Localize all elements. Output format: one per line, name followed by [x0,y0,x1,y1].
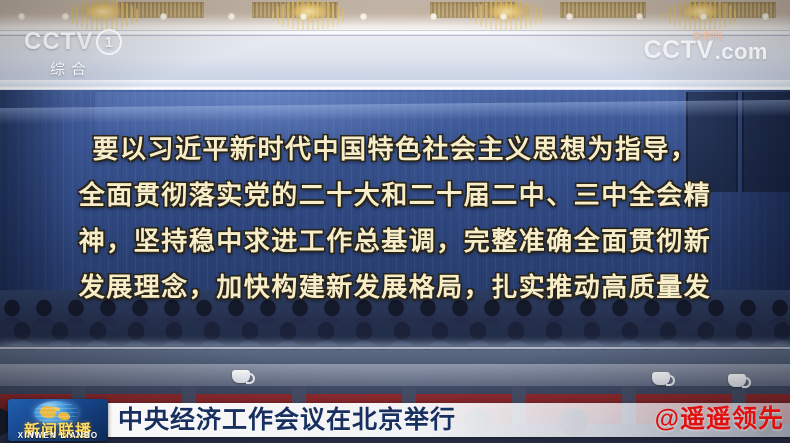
program-name-en: XINWEN LIANBO [8,431,108,440]
ceiling-light [700,13,707,20]
channel-sub-label: 综合 [50,58,144,79]
subtitle-line: 神，坚持稳中求进工作总基调，完整准确全面贯彻新 [0,218,790,264]
teacup-icon [728,374,746,387]
ceiling-light [360,13,367,20]
ceiling-light [566,13,573,20]
channel-number: 1 [96,29,122,55]
chandelier-icon [470,0,544,30]
cctv-cn-label: 央视网 [692,27,722,42]
cctv-wordmark: CCTV 1 [24,28,144,56]
cctv-watermark-domain: .com [715,39,768,65]
ceiling-light [636,13,643,20]
ceiling-light [18,13,25,20]
subtitle-line: 发展理念，加快构建新发展格局，扎实推动高质量发 [0,264,790,310]
ceiling-light [62,13,69,20]
chandelier-icon [66,0,140,30]
program-logo: 新闻联播 XINWEN LIANBO [8,399,108,441]
user-watermark: @遥遥领先 [655,399,784,435]
ceiling-light [228,13,235,20]
ceiling-light [762,13,769,20]
ceiling-light [430,13,437,20]
cctv-letters: CCTV [24,28,93,56]
ceiling-light [500,13,507,20]
ceiling-light [160,13,167,20]
subtitle-line: 全面贯彻落实党的二十大和二十届二中、三中全会精 [0,172,790,218]
ceiling-light [300,13,307,20]
subtitle-line: 要以习近平新时代中国特色社会主义思想为指导， [0,126,790,172]
ceiling-band [0,0,790,30]
teacup-icon [652,372,670,385]
headline-text: 中央经济工作会议在北京举行 [118,406,456,434]
cctv-com-watermark: 央视网 CCTV .com [644,36,768,65]
subtitle-overlay: 要以习近平新时代中国特色社会主义思想为指导， 全面贯彻落实党的二十大和二十届二中… [0,126,790,310]
lower-third: 中央经济工作会议在北京举行 新闻联播 XINWEN LIANBO @遥遥领先 [0,397,790,443]
broadcast-frame: CCTV 1 综合 央视网 CCTV .com 要以习近平新时代中国特色社会主义… [0,0,790,443]
channel-logo: CCTV 1 综合 [24,28,144,76]
teacup-icon [232,370,250,383]
chandelier-icon [272,0,346,30]
